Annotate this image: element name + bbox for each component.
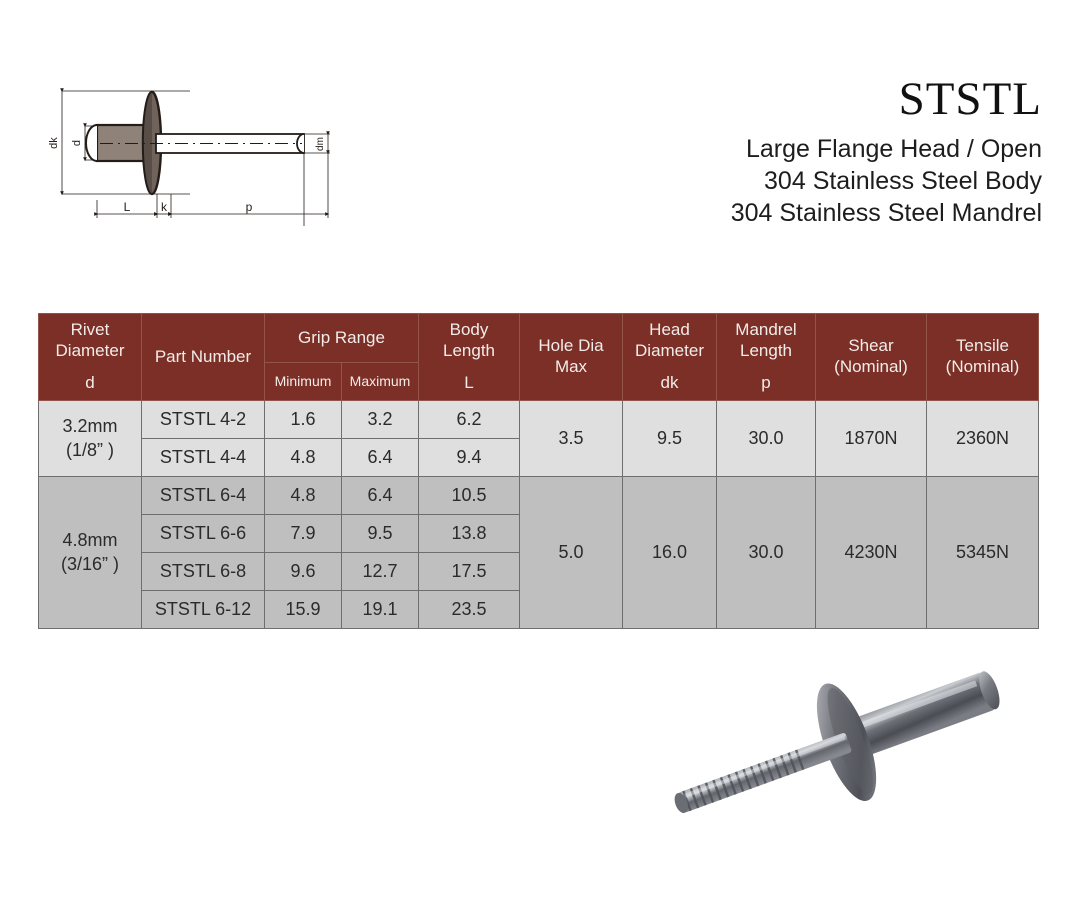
header-body-length-symbol: L [421, 373, 517, 394]
rivet-photo-svg [620, 640, 1050, 905]
header-grip-range: Grip Range [265, 314, 419, 363]
cell-grip-max: 6.4 [342, 439, 419, 477]
cell-grip-min: 15.9 [265, 591, 342, 629]
cell-part-number: STSTL 6-4 [142, 477, 265, 515]
cell-mandrel-length: 30.0 [717, 477, 816, 629]
title-block: STSTL Large Flange Head / Open 304 Stain… [522, 76, 1042, 229]
cell-part-number: STSTL 6-8 [142, 553, 265, 591]
header-rivet-diameter-line1: Rivet [71, 320, 110, 339]
header-shear: Shear (Nominal) [816, 314, 927, 401]
cell-part-number: STSTL 6-6 [142, 515, 265, 553]
drawing-label-L: L [124, 200, 131, 214]
header-mandrel-length: Mandrel Length p [717, 314, 816, 401]
rivet-flange-head-shade [143, 92, 152, 194]
header-hole-dia-line2: Max [555, 357, 587, 376]
mandrel-highlight [684, 736, 845, 798]
header-body-length-line1: Body [450, 320, 489, 339]
cell-body-length: 13.8 [419, 515, 520, 553]
cell-grip-max: 19.1 [342, 591, 419, 629]
table-row[interactable]: 4.8mm (3/16” ) STSTL 6-4 4.8 6.4 10.5 5.… [39, 477, 1039, 515]
cell-grip-min: 7.9 [265, 515, 342, 553]
cell-grip-max: 9.5 [342, 515, 419, 553]
cell-tensile: 5345N [927, 477, 1039, 629]
header-head-diameter-line1: Head [649, 320, 690, 339]
cell-rivet-diameter: 3.2mm (1/8” ) [39, 401, 142, 477]
header-body-length: Body Length L [419, 314, 520, 401]
cell-grip-min: 4.8 [265, 477, 342, 515]
description-line-2: 304 Stainless Steel Body [522, 166, 1042, 198]
header-grip-minimum: Minimum [265, 363, 342, 401]
product-photo [620, 640, 1050, 905]
description-line-1: Large Flange Head / Open [522, 134, 1042, 166]
header-tensile-line1: Tensile [956, 336, 1009, 355]
cell-body-length: 17.5 [419, 553, 520, 591]
header-shear-line2: (Nominal) [834, 357, 908, 376]
cell-rivet-diameter: 4.8mm (3/16” ) [39, 477, 142, 629]
drawing-label-d: d [71, 140, 83, 146]
rivet-diameter-inch: (1/8” ) [66, 440, 114, 460]
header-tensile-line2: (Nominal) [946, 357, 1020, 376]
rivet-technical-drawing: dk d dm L k p [40, 78, 340, 226]
drawing-label-dm: dm [315, 137, 326, 151]
header-hole-dia: Hole Dia Max [520, 314, 623, 401]
drawing-label-p: p [246, 200, 253, 214]
header-rivet-diameter: Rivet Diameter d [39, 314, 142, 401]
header-rivet-diameter-line2: Diameter [56, 341, 125, 360]
header-head-diameter-line2: Diameter [635, 341, 704, 360]
cell-hole-dia-max: 5.0 [520, 477, 623, 629]
description-line-3: 304 Stainless Steel Mandrel [522, 198, 1042, 230]
cell-head-diameter: 9.5 [623, 401, 717, 477]
rivet-diameter-mm: 3.2mm [62, 416, 117, 436]
cell-hole-dia-max: 3.5 [520, 401, 623, 477]
header-mandrel-length-symbol: p [719, 373, 813, 394]
cell-mandrel-length: 30.0 [717, 401, 816, 477]
header-mandrel-length-line2: Length [740, 341, 792, 360]
table-row[interactable]: 3.2mm (1/8” ) STSTL 4-2 1.6 3.2 6.2 3.5 … [39, 401, 1039, 439]
rivet-open-end [86, 125, 97, 161]
header-head-diameter: Head Diameter dk [623, 314, 717, 401]
header-part-number: Part Number [142, 314, 265, 401]
header-tensile: Tensile (Nominal) [927, 314, 1039, 401]
header-body-length-line2: Length [443, 341, 495, 360]
header-hole-dia-line1: Hole Dia [538, 336, 603, 355]
cell-body-length: 9.4 [419, 439, 520, 477]
cell-head-diameter: 16.0 [623, 477, 717, 629]
header-shear-line1: Shear [848, 336, 893, 355]
header-grip-maximum: Maximum [342, 363, 419, 401]
technical-drawing-svg: dk d dm L k p [40, 78, 340, 226]
drawing-label-k: k [161, 200, 168, 214]
cell-shear: 4230N [816, 477, 927, 629]
cell-part-number: STSTL 4-4 [142, 439, 265, 477]
cell-tensile: 2360N [927, 401, 1039, 477]
cell-body-length: 23.5 [419, 591, 520, 629]
cell-body-length: 10.5 [419, 477, 520, 515]
cell-grip-min: 1.6 [265, 401, 342, 439]
table-header-row-1: Rivet Diameter d Part Number Grip Range … [39, 314, 1039, 363]
mandrel-photo [672, 732, 852, 815]
rivet-diameter-mm: 4.8mm [62, 530, 117, 550]
cell-body-length: 6.2 [419, 401, 520, 439]
cell-shear: 1870N [816, 401, 927, 477]
product-code: STSTL [522, 76, 1042, 123]
cell-grip-max: 6.4 [342, 477, 419, 515]
header-rivet-diameter-symbol: d [41, 373, 139, 394]
cell-part-number: STSTL 6-12 [142, 591, 265, 629]
cell-grip-min: 4.8 [265, 439, 342, 477]
cell-grip-min: 9.6 [265, 553, 342, 591]
rivet-diameter-inch: (3/16” ) [61, 554, 119, 574]
drawing-label-dk: dk [48, 137, 60, 149]
header-head-diameter-symbol: dk [625, 373, 714, 394]
table-group-4-8mm: 4.8mm (3/16” ) STSTL 6-4 4.8 6.4 10.5 5.… [39, 477, 1039, 629]
cell-grip-max: 3.2 [342, 401, 419, 439]
header-mandrel-length-line1: Mandrel [735, 320, 796, 339]
cell-part-number: STSTL 4-2 [142, 401, 265, 439]
cell-grip-max: 12.7 [342, 553, 419, 591]
specification-table: Rivet Diameter d Part Number Grip Range … [38, 313, 1039, 629]
table-group-3-2mm: 3.2mm (1/8” ) STSTL 4-2 1.6 3.2 6.2 3.5 … [39, 401, 1039, 477]
